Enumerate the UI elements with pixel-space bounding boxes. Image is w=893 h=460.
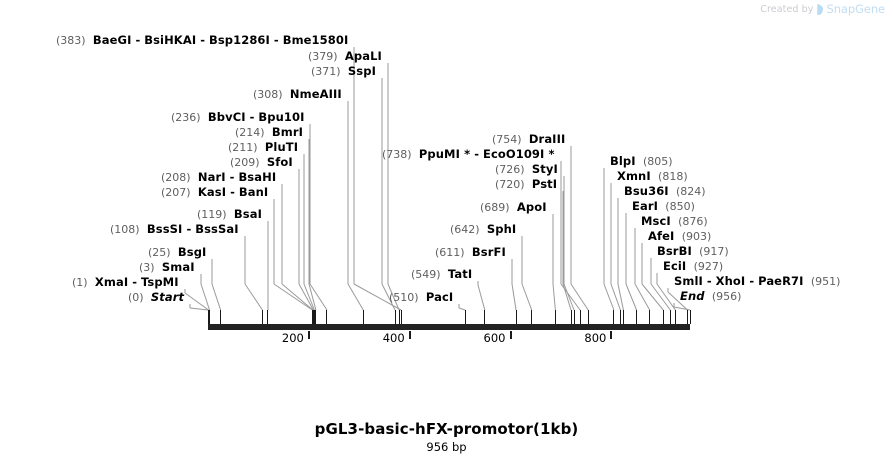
enzyme-name[interactable]: TspMI bbox=[141, 275, 179, 289]
enzyme-name[interactable]: Bpu10I bbox=[258, 110, 304, 124]
enzyme-name[interactable]: BaeGI bbox=[93, 33, 132, 47]
enzyme-name[interactable]: SmlI bbox=[674, 274, 703, 288]
enzyme-name[interactable]: SspI bbox=[348, 64, 376, 78]
leader-line bbox=[185, 293, 209, 310]
leader-line bbox=[245, 284, 262, 310]
leader-line bbox=[274, 284, 312, 310]
enzyme-label[interactable]: MscI (876) bbox=[641, 215, 708, 228]
leader-line bbox=[604, 284, 614, 310]
enzyme-position: (1) bbox=[72, 276, 88, 289]
enzyme-name[interactable]: BsaI bbox=[234, 207, 262, 221]
enzyme-position: (236) bbox=[171, 111, 201, 124]
enzyme-label[interactable]: EarI (850) bbox=[632, 200, 695, 213]
enzyme-label[interactable]: (207) KasI - BanI bbox=[161, 186, 268, 199]
ruler-tick bbox=[510, 331, 512, 339]
plasmid-map: Created by SnapGene (383) BaeGI - BsiHKA… bbox=[0, 0, 893, 460]
enzyme-position: (927) bbox=[694, 260, 724, 273]
enzyme-label[interactable]: (738) PpuMI * - EcoO109I * bbox=[382, 148, 555, 161]
enzyme-name[interactable]: ApaLI bbox=[345, 49, 382, 63]
enzyme-position: (0) bbox=[128, 291, 144, 304]
enzyme-name[interactable]: Bsp1286I bbox=[209, 33, 270, 47]
enzyme-label[interactable]: (611) BsrFI bbox=[435, 246, 506, 259]
enzyme-name-separator: - bbox=[703, 274, 716, 288]
restriction-site-tick bbox=[663, 310, 664, 324]
enzyme-label[interactable]: (720) PstI bbox=[495, 178, 557, 191]
leader-line bbox=[651, 284, 670, 310]
enzyme-position: (689) bbox=[480, 201, 510, 214]
enzyme-name[interactable]: BsrBI bbox=[657, 244, 692, 258]
enzyme-position: (738) bbox=[382, 148, 412, 161]
enzyme-label[interactable]: (25) BsgI bbox=[148, 246, 206, 259]
enzyme-label[interactable]: (236) BbvCI - Bpu10I bbox=[171, 111, 304, 124]
enzyme-label[interactable]: (726) StyI bbox=[495, 163, 558, 176]
enzyme-label[interactable]: (3) SmaI bbox=[139, 261, 195, 274]
enzyme-label[interactable]: BlpI (805) bbox=[610, 155, 673, 168]
leader-line bbox=[571, 284, 588, 310]
restriction-site-tick bbox=[580, 310, 581, 324]
enzyme-position: (108) bbox=[110, 223, 140, 236]
restriction-site-tick bbox=[613, 310, 614, 324]
enzyme-position: (903) bbox=[682, 230, 712, 243]
enzyme-label[interactable]: (308) NmeAIII bbox=[253, 88, 342, 101]
restriction-site-tick bbox=[623, 310, 624, 324]
leader-line bbox=[201, 284, 210, 310]
restriction-site-tick bbox=[620, 310, 621, 324]
enzyme-name-separator: - bbox=[745, 274, 758, 288]
leader-line bbox=[563, 284, 571, 310]
restriction-site-tick bbox=[484, 310, 485, 324]
leader-line bbox=[611, 284, 620, 310]
plasmid-size: 956 bp bbox=[0, 440, 893, 454]
enzyme-name-separator: - bbox=[270, 33, 283, 47]
enzyme-label[interactable]: (510) PacI bbox=[389, 291, 453, 304]
enzyme-position: (818) bbox=[658, 170, 688, 183]
ruler-tick-label: 800 bbox=[549, 331, 606, 345]
enzyme-name[interactable]: PpuMI * bbox=[419, 147, 470, 161]
sequence-terminus-label[interactable]: Start bbox=[151, 290, 184, 304]
enzyme-name[interactable]: EcoO109I * bbox=[483, 147, 555, 161]
enzyme-label[interactable]: (119) BsaI bbox=[197, 208, 262, 221]
enzyme-name-separator: - bbox=[226, 170, 239, 184]
enzyme-position: (510) bbox=[389, 291, 419, 304]
sequence-backbone[interactable] bbox=[208, 324, 690, 330]
enzyme-position: (25) bbox=[148, 246, 171, 259]
restriction-site-tick bbox=[531, 310, 532, 324]
leader-line bbox=[561, 284, 580, 310]
enzyme-name-separator: - bbox=[131, 33, 144, 47]
enzyme-name[interactable]: Bme1580I bbox=[283, 33, 349, 47]
enzyme-name[interactable]: BsgI bbox=[178, 245, 207, 259]
enzyme-position: (876) bbox=[678, 215, 708, 228]
enzyme-name[interactable]: SphI bbox=[487, 222, 516, 236]
enzyme-name[interactable]: XhoI bbox=[716, 274, 746, 288]
restriction-site-tick bbox=[571, 310, 572, 324]
leader-line bbox=[626, 284, 637, 310]
sequence-terminus-label[interactable]: End bbox=[680, 289, 705, 303]
enzyme-label[interactable]: (211) PluTI bbox=[228, 141, 298, 154]
enzyme-name[interactable]: BsaHI bbox=[238, 170, 276, 184]
enzyme-position: (549) bbox=[411, 268, 441, 281]
enzyme-position: (383) bbox=[56, 34, 86, 47]
restriction-site-tick bbox=[516, 310, 517, 324]
enzyme-position: (720) bbox=[495, 178, 525, 191]
restriction-site-tick bbox=[315, 310, 316, 324]
enzyme-label[interactable]: End (956) bbox=[680, 290, 741, 303]
restriction-site-tick bbox=[675, 310, 676, 324]
enzyme-label[interactable]: (549) TatI bbox=[411, 268, 472, 281]
enzyme-position: (3) bbox=[139, 261, 155, 274]
leader-line bbox=[304, 284, 314, 310]
restriction-site-tick bbox=[401, 310, 402, 324]
enzyme-position: (211) bbox=[228, 141, 258, 154]
restriction-site-tick bbox=[555, 310, 556, 324]
restriction-site-tick bbox=[687, 310, 688, 324]
enzyme-position: (642) bbox=[450, 223, 480, 236]
enzyme-label[interactable]: XmnI (818) bbox=[617, 170, 688, 183]
enzyme-position: (379) bbox=[308, 50, 338, 63]
enzyme-name[interactable]: BanI bbox=[239, 185, 268, 199]
enzyme-name[interactable]: SmaI bbox=[162, 260, 195, 274]
enzyme-name[interactable]: SfoI bbox=[267, 155, 293, 169]
enzyme-position: (119) bbox=[197, 208, 227, 221]
enzyme-position: (754) bbox=[492, 133, 522, 146]
ruler-tick bbox=[409, 331, 411, 339]
enzyme-name[interactable]: XmnI bbox=[617, 169, 651, 183]
enzyme-name[interactable]: PaeR7I bbox=[758, 274, 803, 288]
leader-line bbox=[310, 284, 327, 310]
enzyme-position: (208) bbox=[161, 171, 191, 184]
leader-line bbox=[190, 308, 208, 310]
title-block: pGL3-basic-hFX-promotor(1kb) 956 bp bbox=[0, 420, 893, 454]
enzyme-name[interactable]: EarI bbox=[632, 199, 658, 213]
restriction-site-tick bbox=[209, 310, 210, 324]
ruler-tick bbox=[610, 331, 612, 339]
enzyme-position: (805) bbox=[643, 155, 673, 168]
watermark-brand-label: SnapGene bbox=[827, 2, 886, 16]
ruler-tick bbox=[308, 331, 310, 339]
enzyme-name[interactable]: BssSI bbox=[147, 222, 183, 236]
enzyme-name[interactable]: PstI bbox=[532, 177, 557, 191]
enzyme-name-separator: - bbox=[246, 110, 259, 124]
plasmid-title: pGL3-basic-hFX-promotor(1kb) bbox=[0, 420, 893, 438]
enzyme-label[interactable]: (754) DraIII bbox=[492, 133, 565, 146]
restriction-site-tick bbox=[220, 310, 221, 324]
leader-line bbox=[618, 284, 623, 310]
enzyme-position: (207) bbox=[161, 186, 191, 199]
enzyme-name[interactable]: StyI bbox=[532, 162, 558, 176]
enzyme-label[interactable]: Bsu36I (824) bbox=[624, 185, 706, 198]
enzyme-name[interactable]: Bsu36I bbox=[624, 184, 669, 198]
restriction-site-tick bbox=[326, 310, 327, 324]
restriction-site-tick bbox=[267, 310, 268, 324]
enzyme-position: (824) bbox=[676, 185, 706, 198]
restriction-site-tick bbox=[649, 310, 650, 324]
enzyme-name[interactable]: BbvCI bbox=[208, 110, 246, 124]
snapgene-watermark: Created by SnapGene bbox=[760, 2, 885, 16]
enzyme-name-separator: - bbox=[196, 33, 209, 47]
restriction-site-tick bbox=[636, 310, 637, 324]
enzyme-name-separator: - bbox=[470, 147, 483, 161]
leader-line bbox=[348, 284, 363, 310]
ruler-tick-label: 200 bbox=[247, 331, 304, 345]
enzyme-name[interactable]: XmaI bbox=[95, 275, 128, 289]
ruler-tick-label: 400 bbox=[348, 331, 405, 345]
leader-line bbox=[564, 284, 574, 310]
restriction-site-tick bbox=[588, 310, 589, 324]
enzyme-label[interactable]: (371) SspI bbox=[311, 65, 376, 78]
enzyme-name[interactable]: BlpI bbox=[610, 154, 636, 168]
enzyme-position: (209) bbox=[230, 156, 260, 169]
enzyme-name-separator: - bbox=[182, 222, 195, 236]
leader-line bbox=[522, 284, 532, 310]
enzyme-name[interactable]: PacI bbox=[426, 290, 453, 304]
enzyme-label[interactable]: (383) BaeGI - BsiHKAI - Bsp1286I - Bme15… bbox=[56, 34, 348, 47]
enzyme-name[interactable]: NmeAIII bbox=[290, 87, 342, 101]
leader-line bbox=[309, 284, 316, 310]
leader-line bbox=[299, 284, 313, 310]
leader-line bbox=[553, 284, 555, 310]
enzyme-position: (956) bbox=[712, 290, 742, 303]
snapgene-flame-icon bbox=[817, 3, 824, 16]
enzyme-position: (214) bbox=[235, 126, 265, 139]
enzyme-position: (951) bbox=[811, 275, 841, 288]
restriction-site-tick bbox=[690, 310, 691, 324]
leader-line bbox=[635, 284, 650, 310]
enzyme-name[interactable]: EciI bbox=[663, 259, 686, 273]
leader-line bbox=[642, 284, 663, 310]
leader-line bbox=[512, 284, 516, 310]
restriction-site-tick bbox=[399, 310, 400, 324]
restriction-site-tick bbox=[465, 310, 466, 324]
enzyme-position: (611) bbox=[435, 246, 465, 259]
enzyme-label[interactable]: (1) XmaI - TspMI bbox=[72, 276, 179, 289]
enzyme-position: (726) bbox=[495, 163, 525, 176]
leader-line bbox=[478, 285, 485, 310]
restriction-site-tick bbox=[262, 310, 263, 324]
enzyme-name[interactable]: ApoI bbox=[517, 200, 547, 214]
enzyme-label[interactable]: EciI (927) bbox=[663, 260, 723, 273]
enzyme-label[interactable]: BsrBI (917) bbox=[657, 245, 729, 258]
enzyme-name[interactable]: MscI bbox=[641, 214, 671, 228]
enzyme-label[interactable]: AfeI (903) bbox=[648, 230, 711, 243]
enzyme-label[interactable]: (214) BmrI bbox=[235, 126, 303, 139]
enzyme-name[interactable]: PluTI bbox=[265, 140, 298, 154]
enzyme-position: (308) bbox=[253, 88, 283, 101]
enzyme-name[interactable]: BssSaI bbox=[195, 222, 238, 236]
enzyme-label[interactable]: (642) SphI bbox=[450, 223, 516, 236]
leader-line bbox=[212, 284, 221, 310]
enzyme-label[interactable]: (379) ApaLI bbox=[308, 50, 382, 63]
enzyme-label[interactable]: (0) Start bbox=[128, 291, 184, 304]
enzyme-label[interactable]: (208) NarI - BsaHI bbox=[161, 171, 276, 184]
restriction-site-tick bbox=[670, 310, 671, 324]
enzyme-name[interactable]: AfeI bbox=[648, 229, 674, 243]
enzyme-label[interactable]: (209) SfoI bbox=[230, 156, 293, 169]
enzyme-name[interactable]: KasI bbox=[198, 185, 226, 199]
enzyme-name[interactable]: NarI bbox=[198, 170, 226, 184]
restriction-site-tick bbox=[363, 310, 364, 324]
watermark-created-by-label: Created by bbox=[760, 4, 813, 15]
enzyme-name[interactable]: TatI bbox=[448, 267, 472, 281]
enzyme-name[interactable]: DraIII bbox=[529, 132, 565, 146]
enzyme-position: (917) bbox=[699, 245, 729, 258]
enzyme-position: (371) bbox=[311, 65, 341, 78]
leader-line bbox=[282, 284, 313, 310]
enzyme-name-separator: - bbox=[226, 185, 239, 199]
enzyme-label[interactable]: (689) ApoI bbox=[480, 201, 547, 214]
restriction-site-tick bbox=[395, 310, 396, 324]
leader-line bbox=[657, 284, 675, 310]
enzyme-name[interactable]: BmrI bbox=[272, 125, 303, 139]
enzyme-label[interactable]: (108) BssSI - BssSaI bbox=[110, 223, 239, 236]
ruler-tick-label: 600 bbox=[449, 331, 506, 345]
enzyme-name[interactable]: BsiHKAI bbox=[144, 33, 196, 47]
enzyme-position: (850) bbox=[665, 200, 695, 213]
enzyme-name-separator: - bbox=[128, 275, 141, 289]
enzyme-label[interactable]: SmlI - XhoI - PaeR7I (951) bbox=[674, 275, 840, 288]
enzyme-name[interactable]: BsrFI bbox=[472, 245, 506, 259]
restriction-site-tick bbox=[574, 310, 575, 324]
